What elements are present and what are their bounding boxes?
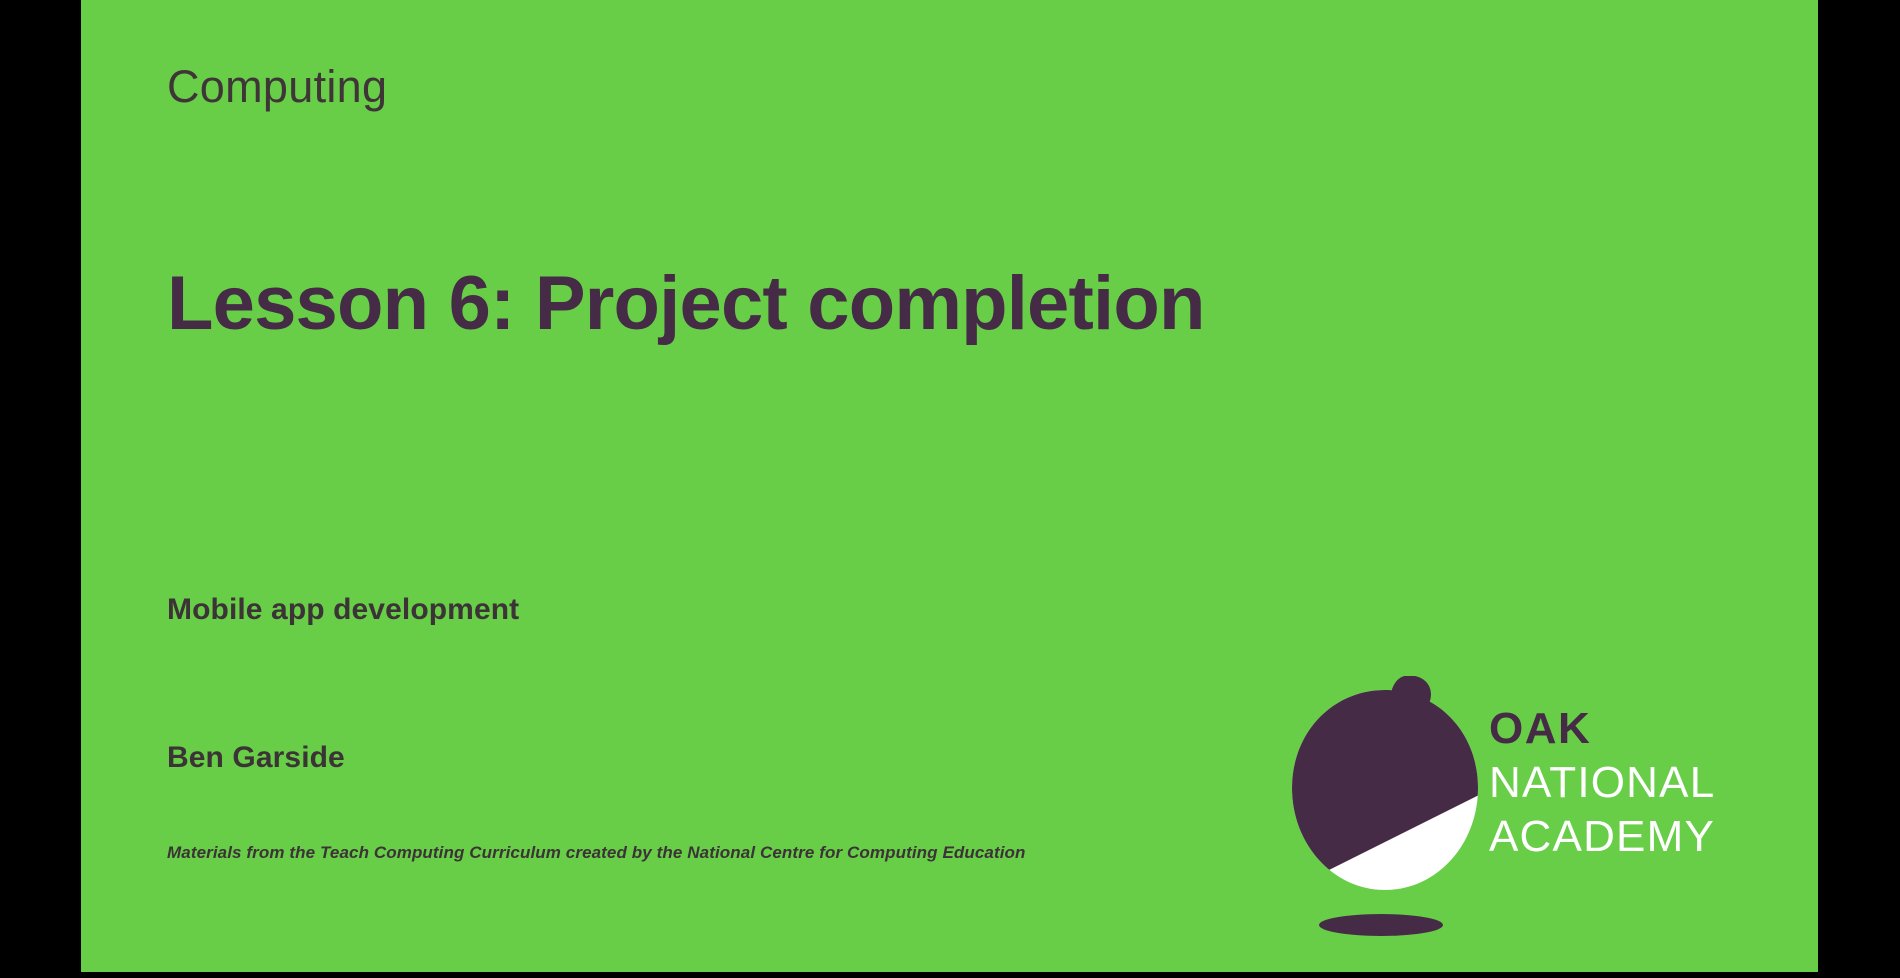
wordmark-oak: OAK xyxy=(1489,707,1809,751)
slide-canvas: Computing Lesson 6: Project completion M… xyxy=(81,0,1818,972)
letterbox-right-bar xyxy=(1818,0,1900,978)
slide-stage: Computing Lesson 6: Project completion M… xyxy=(0,0,1900,978)
letterbox-bottom-bar xyxy=(0,972,1900,978)
unit-name-label: Mobile app development xyxy=(167,592,519,628)
page-title: Lesson 6: Project completion xyxy=(167,263,1205,345)
letterbox-left-bar xyxy=(0,0,81,978)
attribution-note: Materials from the Teach Computing Curri… xyxy=(167,842,1026,863)
wordmark-academy: ACADEMY xyxy=(1489,815,1809,859)
logo-wordmark: OAK NATIONAL ACADEMY xyxy=(1489,707,1809,859)
wordmark-national: NATIONAL xyxy=(1489,761,1809,805)
author-name-label: Ben Garside xyxy=(167,740,345,776)
oak-national-academy-logo: OAK NATIONAL ACADEMY xyxy=(1285,676,1815,944)
subject-eyebrow: Computing xyxy=(167,62,387,112)
acorn-icon xyxy=(1285,676,1485,944)
